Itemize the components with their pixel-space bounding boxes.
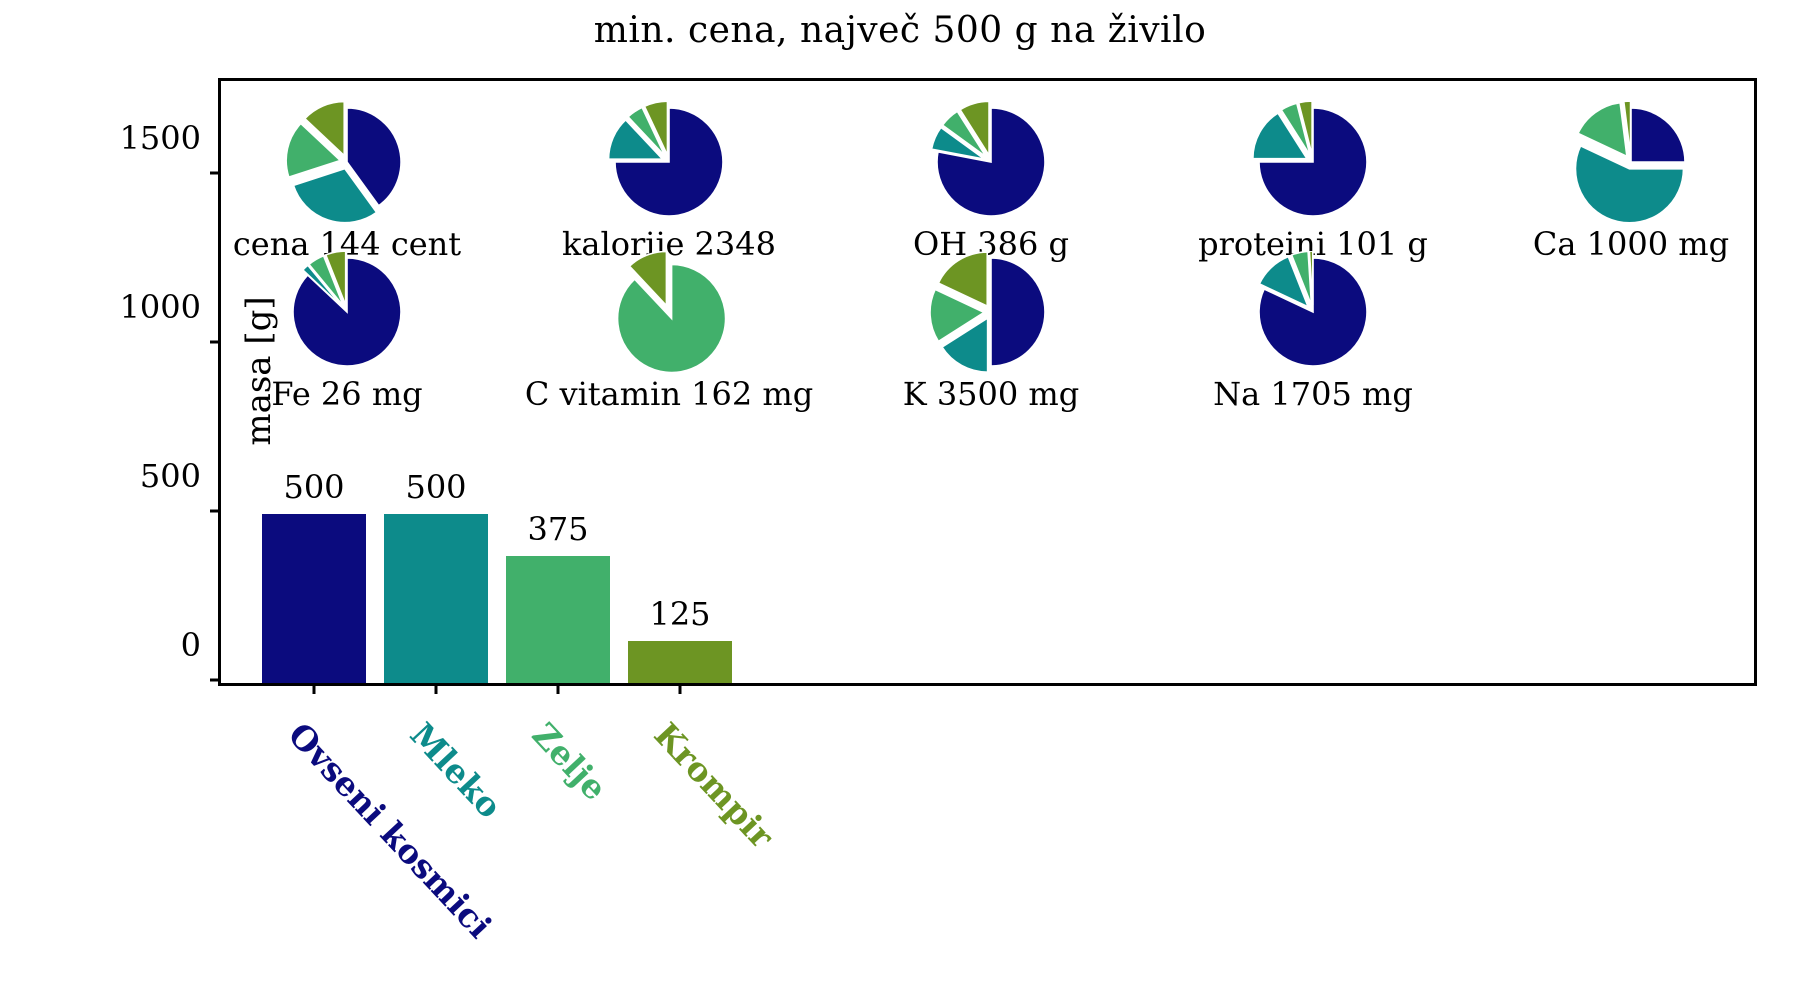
chart-title: min. cena, največ 500 g na živilo xyxy=(0,10,1800,51)
pie-caption: C vitamin 162 mg xyxy=(525,375,813,413)
pie-inset: Fe 26 mg xyxy=(286,251,408,373)
pie-svg xyxy=(286,251,408,373)
pie-caption: K 3500 mg xyxy=(903,375,1080,413)
pie-slice xyxy=(618,265,726,373)
pie-slice xyxy=(1631,108,1685,162)
y-tick-mark xyxy=(210,172,221,175)
y-tick-label: 0 xyxy=(101,626,201,664)
pie-inset: Ca 1000 mg xyxy=(1570,101,1692,223)
pie-slice xyxy=(991,258,1045,366)
plot-area: masa [g] 050010001500 Ovseni kosmiciMlek… xyxy=(218,78,1757,686)
pie-svg xyxy=(930,101,1052,223)
x-tick-mark xyxy=(313,683,316,694)
bar[interactable] xyxy=(384,514,488,683)
bar-value-label: 500 xyxy=(405,468,466,506)
pie-caption: Na 1705 mg xyxy=(1213,375,1413,413)
y-tick-mark xyxy=(210,341,221,344)
bar-value-label: 375 xyxy=(527,510,588,548)
pie-inset: cena 144 cent xyxy=(286,101,408,223)
pie-svg xyxy=(1570,101,1692,223)
x-tick-label: Zelje xyxy=(524,715,614,808)
pie-svg xyxy=(930,251,1052,373)
x-tick-mark xyxy=(435,683,438,694)
x-tick-mark xyxy=(679,683,682,694)
pie-inset: K 3500 mg xyxy=(930,251,1052,373)
figure-canvas: min. cena, največ 500 g na živilo masa [… xyxy=(0,0,1800,990)
pie-inset: Na 1705 mg xyxy=(1252,251,1374,373)
pie-inset: C vitamin 162 mg xyxy=(608,251,730,373)
y-tick-label: 500 xyxy=(101,457,201,495)
bar[interactable] xyxy=(628,641,732,683)
pie-svg xyxy=(608,101,730,223)
x-tick-mark xyxy=(557,683,560,694)
y-tick-label: 1000 xyxy=(101,288,201,326)
x-tick-label: Krompir xyxy=(646,715,781,856)
pie-svg xyxy=(1252,251,1374,373)
y-tick-mark xyxy=(210,510,221,513)
pie-svg xyxy=(608,251,730,373)
bar[interactable] xyxy=(262,514,366,683)
y-tick-label: 1500 xyxy=(101,119,201,157)
x-tick-label: Ovseni kosmici xyxy=(280,715,499,946)
pie-inset: kalorije 2348 xyxy=(608,101,730,223)
pie-inset: proteini 101 g xyxy=(1252,101,1374,223)
y-tick-mark xyxy=(210,679,221,682)
pie-caption: Ca 1000 mg xyxy=(1533,225,1729,263)
x-tick-label: Mleko xyxy=(402,715,509,826)
pie-slice xyxy=(615,108,723,216)
pie-svg xyxy=(1252,101,1374,223)
pie-inset: OH 386 g xyxy=(930,101,1052,223)
bar[interactable] xyxy=(506,556,610,683)
pie-svg xyxy=(286,101,408,223)
pie-caption: Fe 26 mg xyxy=(271,375,422,413)
bar-value-label: 500 xyxy=(283,468,344,506)
bar-value-label: 125 xyxy=(649,595,710,633)
